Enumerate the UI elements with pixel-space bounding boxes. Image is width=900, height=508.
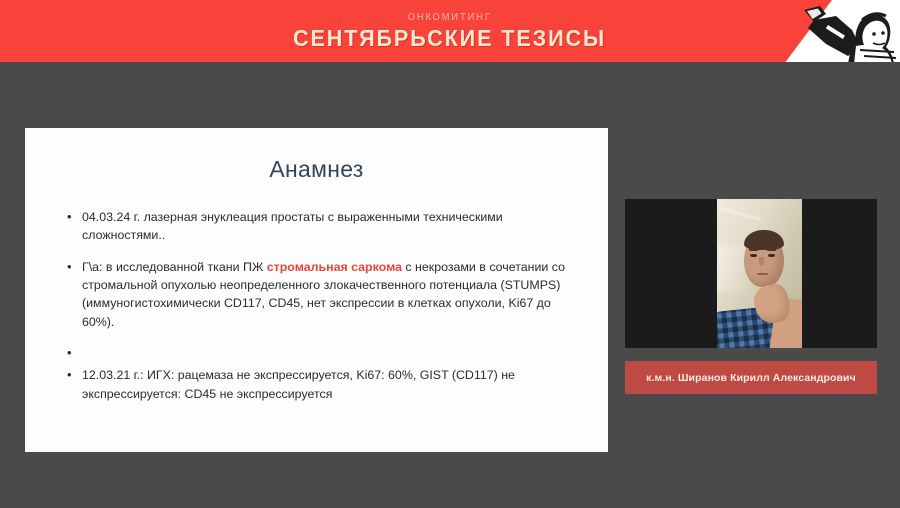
slide-bullet-3-empty	[65, 344, 580, 357]
participant-video-frame	[717, 199, 802, 348]
slide-body: 04.03.24 г. лазерная энуклеация простаты…	[65, 208, 580, 416]
participant-name-label: к.м.н. Ширанов Кирилл Александрович	[646, 372, 856, 384]
participant-brow-left	[749, 249, 758, 251]
participant-nose	[759, 257, 764, 266]
event-header-banner: ОНКОМИТИНГ СЕНТЯБРЬСКИЕ ТЕЗИСЫ	[0, 0, 900, 62]
bullet-text: 04.03.24 г. лазерная энуклеация простаты…	[82, 210, 503, 242]
raised-fist-worker-icon	[774, 0, 900, 62]
slide-title: Анамнез	[25, 156, 608, 183]
presentation-slide[interactable]: Анамнез 04.03.24 г. лазерная энуклеация …	[25, 128, 608, 452]
slide-bullet-2: Г\а: в исследованной ткани ПЖ стромальна…	[65, 258, 580, 331]
participant-eye-left	[750, 254, 757, 257]
participant-name-banner: к.м.н. Ширанов Кирилл Александрович	[625, 361, 877, 394]
header-kicker: ОНКОМИТИНГ	[408, 11, 492, 23]
participant-brow-right	[767, 249, 776, 251]
webinar-screen: ОНКОМИТИНГ СЕНТЯБРЬСКИЕ ТЕЗИСЫ	[0, 0, 900, 508]
header-text-group: ОНКОМИТИНГ СЕНТЯБРЬСКИЕ ТЕЗИСЫ	[0, 0, 900, 62]
header-title: СЕНТЯБРЬСКИЕ ТЕЗИСЫ	[293, 25, 606, 52]
slide-bullet-1: 04.03.24 г. лазерная энуклеация простаты…	[65, 208, 580, 245]
participant-eye-right	[768, 254, 775, 257]
bullet-highlight-stromal-sarcoma: стромальная саркома	[267, 260, 402, 274]
slide-bullet-4: 12.03.21 г.: ИГХ: рацемаза не экспрессир…	[65, 366, 580, 403]
participant-video-tile[interactable]	[625, 199, 877, 348]
bullet-text: 12.03.21 г.: ИГХ: рацемаза не экспрессир…	[82, 368, 515, 400]
bullet-text-part-1: Г\а: в исследованной ткани ПЖ	[82, 260, 267, 274]
participant-hair	[744, 230, 784, 250]
participant-mouth	[757, 273, 768, 275]
